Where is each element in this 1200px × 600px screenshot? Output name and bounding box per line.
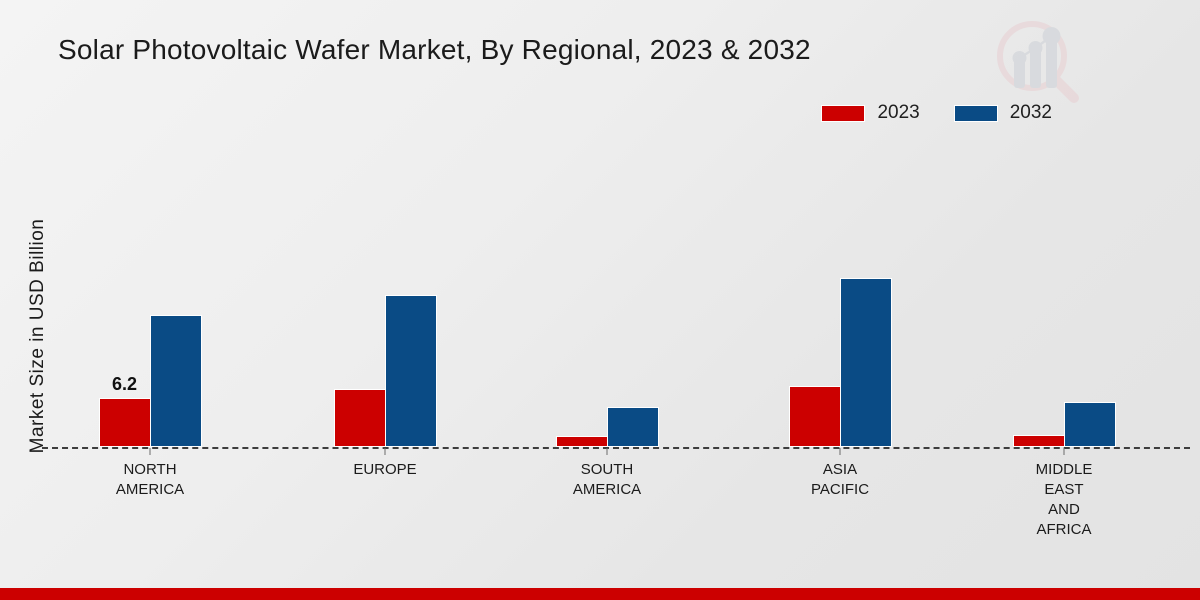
bar-2032[interactable] (385, 295, 437, 447)
legend-label-2023: 2023 (877, 102, 919, 124)
bar-pair (760, 150, 920, 447)
bar-2023[interactable] (334, 389, 386, 447)
footer-accent-bar (0, 588, 1200, 600)
bar-group: EUROPE (305, 150, 465, 447)
bar-2023[interactable] (1013, 435, 1065, 447)
bar-2032[interactable] (840, 278, 892, 447)
x-axis-category-label: SOUTHAMERICA (573, 460, 641, 500)
x-axis-category-label: NORTHAMERICA (116, 460, 184, 500)
bar-pair (305, 150, 465, 447)
chart-legend: 2023 2032 (821, 102, 1052, 124)
legend-item-2032[interactable]: 2032 (954, 102, 1052, 124)
bar-group: SOUTHAMERICA (527, 150, 687, 447)
bar-pair (984, 150, 1144, 447)
bar-pair (527, 150, 687, 447)
x-axis-tick (385, 448, 386, 455)
bar-value-label: 6.2 (112, 374, 137, 395)
magnifier-bar-chart-logo-icon (984, 14, 1084, 106)
x-axis-tick (607, 448, 608, 455)
x-axis-baseline (42, 447, 1190, 449)
x-axis-tick (150, 448, 151, 455)
bar-group: ASIAPACIFIC (760, 150, 920, 447)
bar-2032[interactable] (1064, 402, 1116, 447)
page-title: Solar Photovoltaic Wafer Market, By Regi… (58, 34, 811, 66)
x-axis-tick (1064, 448, 1065, 455)
legend-label-2032: 2032 (1010, 102, 1052, 124)
bar-2023[interactable]: 6.2 (99, 398, 151, 447)
legend-swatch-icon-2023 (821, 105, 865, 122)
bar-2032[interactable] (607, 407, 659, 447)
legend-swatch-icon-2032 (954, 105, 998, 122)
bar-pair: 6.2 (70, 150, 230, 447)
bar-2023[interactable] (789, 386, 841, 447)
bar-2032[interactable] (150, 315, 202, 447)
x-axis-category-label: EUROPE (353, 460, 416, 480)
bar-group: 6.2NORTHAMERICA (70, 150, 230, 447)
bar-group: MIDDLEEASTANDAFRICA (984, 150, 1144, 447)
plot-area: 6.2NORTHAMERICAEUROPESOUTHAMERICAASIAPAC… (42, 150, 1190, 448)
x-axis-category-label: ASIAPACIFIC (811, 460, 869, 500)
bar-2023[interactable] (556, 436, 608, 447)
x-axis-category-label: MIDDLEEASTANDAFRICA (1036, 460, 1093, 540)
chart-page: Solar Photovoltaic Wafer Market, By Regi… (0, 0, 1200, 600)
x-axis-tick (840, 448, 841, 455)
legend-item-2023[interactable]: 2023 (821, 102, 919, 124)
